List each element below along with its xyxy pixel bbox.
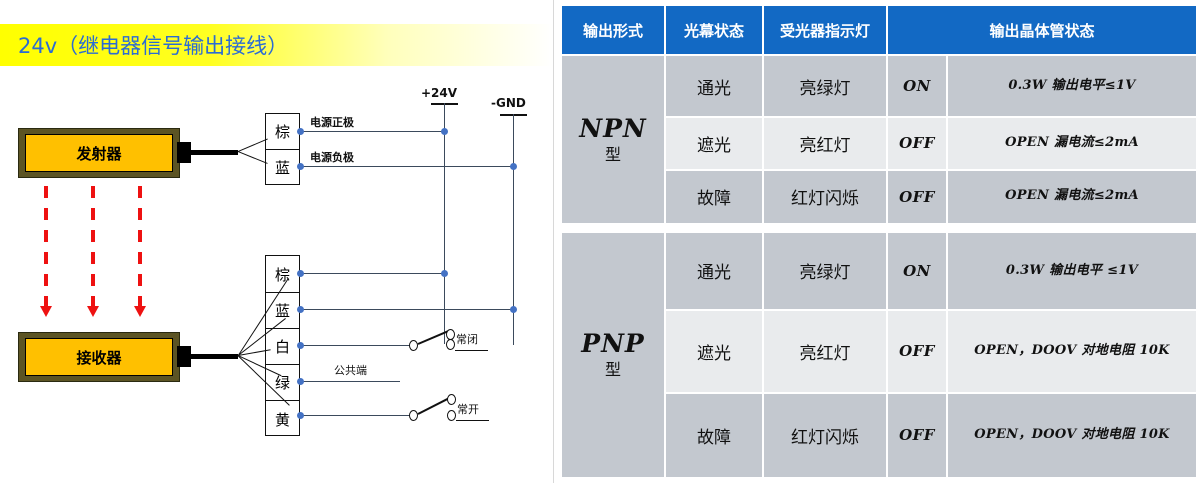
cell-onoff: ON <box>887 55 947 117</box>
transmitter-terminal-box: 棕 蓝 <box>265 113 300 185</box>
cell-onoff: OFF <box>887 170 947 224</box>
wire-transmitter-blue <box>300 166 514 167</box>
output-spec-table: 输出形式 光幕状态 受光器指示灯 输出晶体管状态 NPN 型 通光 亮绿灯 ON… <box>560 4 1198 479</box>
page-title: 24v（继电器信号输出接线） <box>18 30 288 60</box>
receiver-wire-cell: 蓝 <box>266 293 299 329</box>
junction-dot <box>510 306 517 313</box>
transmitter-wire-cell: 棕 <box>266 114 299 150</box>
cell-curtain-state: 故障 <box>665 393 763 478</box>
rail-line-positive <box>444 103 445 344</box>
contact-label-normally-closed: 常闭 <box>456 331 478 347</box>
type-name-pnp: PNP <box>562 328 664 359</box>
contact-terminal-circle <box>409 410 418 421</box>
cell-output: OPEN 漏电流≤2mA <box>947 117 1197 169</box>
transmitter-label: 发射器 <box>76 143 121 164</box>
transmitter-wire-cell: 蓝 <box>266 150 299 185</box>
cell-indicator: 亮红灯 <box>763 310 887 392</box>
contact-tail <box>455 350 488 351</box>
type-cell-pnp: PNP 型 <box>561 232 665 478</box>
light-beam-3 <box>138 186 142 316</box>
receiver-wire-label: 绿 <box>275 372 290 393</box>
col-header-curtain-state: 光幕状态 <box>665 5 763 55</box>
junction-dot <box>297 270 304 277</box>
cell-indicator: 亮绿灯 <box>763 55 887 117</box>
receiver-wire-label: 黄 <box>275 409 290 430</box>
transmitter-body: 发射器 <box>18 128 180 178</box>
receiver-terminal-box: 棕 蓝 白 绿 黄 <box>265 255 300 436</box>
wiring-diagram-panel: 24v（继电器信号输出接线） 发射器 接收器 棕 <box>0 0 553 483</box>
rail-label-positive: +24V <box>421 86 457 100</box>
type-cell-npn: NPN 型 <box>561 55 665 224</box>
light-beam-2 <box>91 186 95 316</box>
transmitter-wire-label: 蓝 <box>275 157 290 178</box>
cell-output: 0.3W 输出电平≤1V <box>947 55 1197 117</box>
table-row: NPN 型 通光 亮绿灯 ON 0.3W 输出电平≤1V <box>561 55 1197 117</box>
receiver-connector <box>177 346 191 367</box>
col-header-transistor-state: 输出晶体管状态 <box>887 5 1197 55</box>
type-suffix-pnp: 型 <box>562 359 664 381</box>
junction-dot <box>441 128 448 135</box>
cell-curtain-state: 遮光 <box>665 117 763 169</box>
junction-dot <box>297 306 304 313</box>
table-header-row: 输出形式 光幕状态 受光器指示灯 输出晶体管状态 <box>561 5 1197 55</box>
beam-arrow-2 <box>87 306 99 317</box>
beam-arrow-1 <box>40 306 52 317</box>
junction-dot <box>297 378 304 385</box>
cell-output: OPEN，DOOV 对地电阻 10K <box>947 310 1197 392</box>
wire-receiver-white <box>300 345 412 346</box>
transmitter-wire-label: 棕 <box>275 121 290 142</box>
contact-arm-no <box>418 398 449 415</box>
transmitter-connector <box>177 142 191 163</box>
receiver-face: 接收器 <box>25 338 173 376</box>
transmitter-fanout-line <box>238 138 268 151</box>
receiver-body: 接收器 <box>18 332 180 382</box>
type-name-npn: NPN <box>562 113 664 144</box>
receiver-wire-cell: 黄 <box>266 401 299 437</box>
cell-onoff: ON <box>887 232 947 310</box>
cell-indicator: 亮红灯 <box>763 117 887 169</box>
cell-curtain-state: 故障 <box>665 170 763 224</box>
group-spacer <box>561 224 1197 232</box>
cell-indicator: 红灯闪烁 <box>763 393 887 478</box>
receiver-cable <box>190 354 238 359</box>
cell-output: OPEN 漏电流≤2mA <box>947 170 1197 224</box>
table-row: PNP 型 通光 亮绿灯 ON 0.3W 输出电平 ≤1V <box>561 232 1197 310</box>
wire-receiver-blue <box>300 309 514 310</box>
contact-terminal-circle <box>409 340 418 351</box>
junction-dot <box>510 163 517 170</box>
transmitter-fanout-line <box>238 151 268 164</box>
col-header-output-form: 输出形式 <box>561 5 665 55</box>
junction-dot <box>297 128 304 135</box>
receiver-label: 接收器 <box>76 347 121 368</box>
cell-onoff: OFF <box>887 310 947 392</box>
col-header-receiver-indicator: 受光器指示灯 <box>763 5 887 55</box>
wire-function-label-blue-tx: 电源负极 <box>310 149 354 165</box>
cell-output: OPEN，DOOV 对地电阻 10K <box>947 393 1197 478</box>
cell-onoff: OFF <box>887 393 947 478</box>
receiver-wire-cell: 白 <box>266 329 299 365</box>
junction-dot <box>297 412 304 419</box>
contact-terminal-circle <box>446 339 455 350</box>
wire-receiver-green <box>300 381 400 382</box>
contact-terminal-circle <box>447 394 456 405</box>
cell-curtain-state: 通光 <box>665 232 763 310</box>
receiver-wire-label: 蓝 <box>275 300 290 321</box>
wire-function-label-brown-tx: 电源正极 <box>310 114 354 130</box>
transmitter-cable <box>190 150 238 155</box>
page-root: 24v（继电器信号输出接线） 发射器 接收器 棕 <box>0 0 1201 483</box>
receiver-wire-label: 棕 <box>275 264 290 285</box>
cell-curtain-state: 遮光 <box>665 310 763 392</box>
contact-tail <box>456 420 489 421</box>
receiver-wire-label: 白 <box>275 336 290 357</box>
type-suffix-npn: 型 <box>562 144 664 166</box>
wire-transmitter-brown <box>300 131 445 132</box>
contact-terminal-circle <box>447 410 456 421</box>
contact-label-common: 公共端 <box>334 362 367 378</box>
beam-arrow-3 <box>134 306 146 317</box>
junction-dot <box>297 342 304 349</box>
cell-indicator: 红灯闪烁 <box>763 170 887 224</box>
transmitter-face: 发射器 <box>25 134 173 172</box>
junction-dot <box>297 163 304 170</box>
contact-label-normally-open: 常开 <box>457 401 479 417</box>
panel-divider <box>553 0 554 483</box>
cell-curtain-state: 通光 <box>665 55 763 117</box>
wire-receiver-brown <box>300 273 445 274</box>
wire-receiver-yellow <box>300 415 412 416</box>
cell-onoff: OFF <box>887 117 947 169</box>
cell-output: 0.3W 输出电平 ≤1V <box>947 232 1197 310</box>
cell-indicator: 亮绿灯 <box>763 232 887 310</box>
rail-label-ground: -GND <box>491 96 526 110</box>
light-beam-1 <box>44 186 48 316</box>
junction-dot <box>441 270 448 277</box>
